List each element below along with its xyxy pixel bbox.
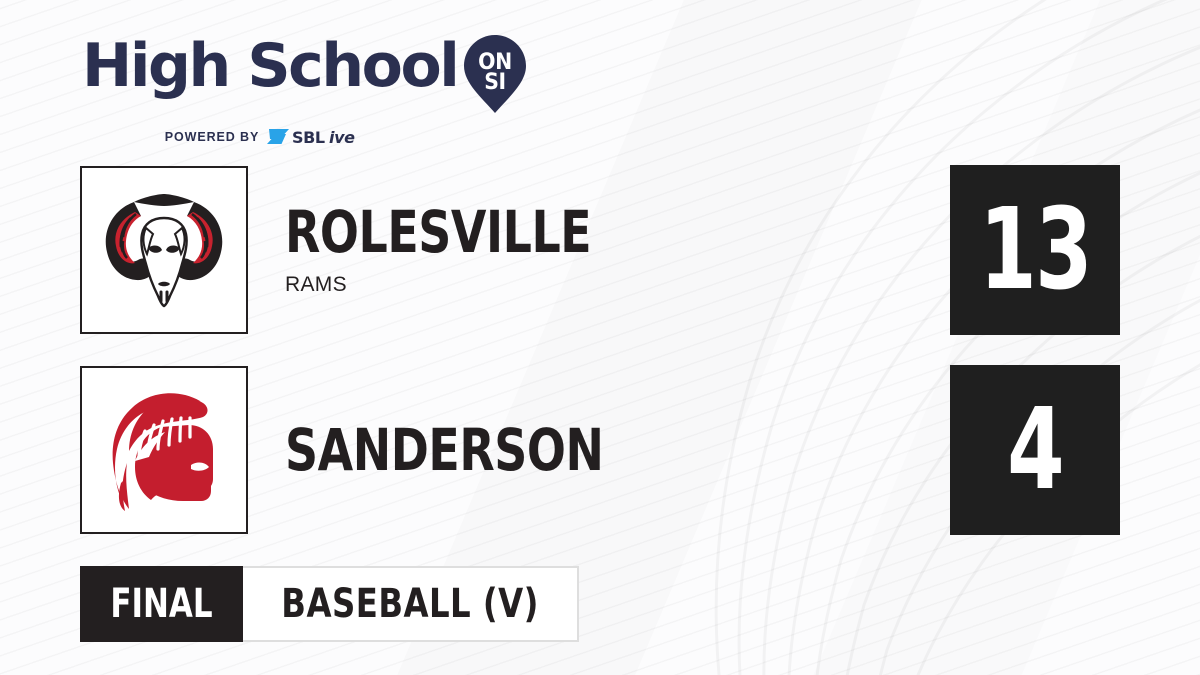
scoreboard-graphic: High School ON SI POWERED BY SBL ive — [0, 0, 1200, 675]
background-arcs — [500, 0, 1200, 675]
team-logo-box-home — [80, 166, 248, 334]
powered-by-row: POWERED BY SBL ive — [82, 126, 512, 147]
team-row-away: SANDERSON — [80, 366, 647, 534]
svg-text:ive: ive — [329, 128, 355, 147]
game-state-label: FINAL — [110, 581, 212, 627]
svg-text:SI: SI — [485, 69, 506, 95]
sport-label: BASEBALL (V) — [281, 581, 539, 627]
game-status-bar: FINAL BASEBALL (V) — [80, 566, 579, 642]
team-text-away: SANDERSON — [285, 421, 647, 479]
score-value-away: 4 — [1007, 394, 1063, 506]
team-text-home: ROLESVILLE RAMS — [285, 203, 633, 297]
ram-head-logo — [98, 188, 230, 312]
spartan-helmet-logo — [105, 387, 223, 513]
team-row-home: ROLESVILLE RAMS — [80, 166, 633, 334]
score-box-home: 13 — [950, 165, 1120, 335]
team-logo-box-away — [80, 366, 248, 534]
brand-title: High School — [82, 38, 457, 96]
score-value-home: 13 — [979, 194, 1091, 306]
svg-text:SBL: SBL — [292, 128, 325, 147]
team-name-home: ROLESVILLE — [285, 203, 591, 261]
score-box-away: 4 — [950, 365, 1120, 535]
brand-title-row: High School ON SI — [82, 38, 512, 118]
team-name-away: SANDERSON — [285, 421, 603, 479]
sport-label-box: BASEBALL (V) — [243, 566, 579, 642]
brand-header: High School ON SI POWERED BY SBL ive — [82, 38, 512, 147]
team-mascot-home: RAMS — [285, 273, 633, 297]
sblive-logo: SBL ive — [267, 126, 371, 147]
on-si-pin-badge: ON SI — [464, 35, 526, 118]
powered-by-label: POWERED BY — [165, 130, 259, 144]
game-state-badge: FINAL — [80, 566, 243, 642]
